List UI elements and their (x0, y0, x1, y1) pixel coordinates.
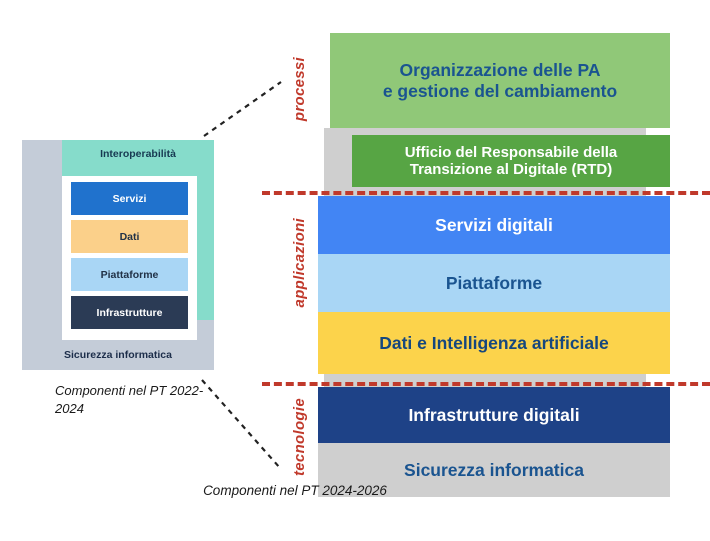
row-infrastrutture-digitali-label: Infrastrutture digitali (408, 405, 579, 425)
category-label-processi: processi (291, 57, 308, 121)
right-diagram-pt-2024-2026: processi applicazioni tecnologie Organiz… (262, 25, 710, 525)
separator-applicazioni-tecnologie (262, 382, 710, 386)
diagram-canvas: Interoperabilità Servizi Dati Piattaform… (0, 0, 710, 541)
left-box-sicurezza-informatica: Sicurezza informatica (22, 340, 214, 370)
left-box-piattaforme-label: Piattaforme (71, 258, 188, 291)
row-sicurezza-informatica-label: Sicurezza informatica (404, 460, 584, 480)
row-organizzazione-pa: Organizzazione delle PAe gestione del ca… (330, 33, 670, 128)
row-organizzazione-pa-label: Organizzazione delle PAe gestione del ca… (383, 60, 617, 100)
left-diagram-pt-2022-2024: Interoperabilità Servizi Dati Piattaform… (22, 140, 214, 370)
row-servizi-digitali: Servizi digitali (318, 196, 670, 254)
left-box-servizi: Servizi (71, 182, 188, 215)
category-label-tecnologie: tecnologie (291, 398, 308, 476)
left-caption: Componenti nel PT 2022-2024 (55, 382, 215, 417)
separator-processi-applicazioni (262, 191, 710, 195)
left-box-servizi-label: Servizi (71, 182, 188, 215)
left-box-piattaforme: Piattaforme (71, 258, 188, 291)
row-ufficio-rtd-label: Ufficio del Responsabile dellaTransizion… (405, 144, 618, 179)
row-servizi-digitali-label: Servizi digitali (435, 215, 553, 235)
right-caption: Componenti nel PT 2024-2026 (130, 483, 460, 498)
left-box-infrastrutture: Infrastrutture (71, 296, 188, 329)
left-box-dati-label: Dati (71, 220, 188, 253)
left-box-sicurezza-label: Sicurezza informatica (64, 349, 172, 361)
left-box-infrastrutture-label: Infrastrutture (71, 296, 188, 329)
row-infrastrutture-digitali: Infrastrutture digitali (318, 387, 670, 443)
left-label-interoperabilita: Interoperabilità (62, 148, 214, 160)
row-piattaforme-label: Piattaforme (446, 273, 542, 293)
row-ufficio-rtd: Ufficio del Responsabile dellaTransizion… (352, 135, 670, 187)
left-box-dati: Dati (71, 220, 188, 253)
row-dati-intelligenza-artificiale-label: Dati e Intelligenza artificiale (379, 333, 609, 353)
row-piattaforme: Piattaforme (318, 254, 670, 312)
row-dati-intelligenza-artificiale: Dati e Intelligenza artificiale (318, 312, 670, 374)
category-label-applicazioni: applicazioni (291, 218, 308, 307)
